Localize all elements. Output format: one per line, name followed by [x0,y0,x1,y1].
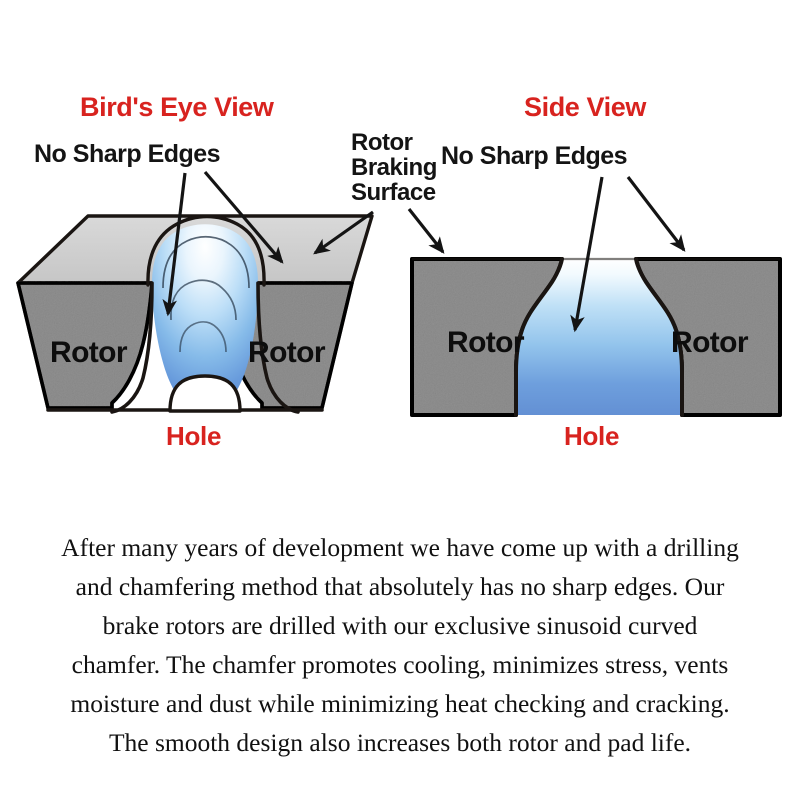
rotor-label-left: Rotor [50,336,128,369]
diagram-canvas: Rotor Rotor Bird's Eye View No Sharp Edg… [0,0,800,800]
description-paragraph: After many years of development we have … [8,528,792,762]
hole-label-side-view: Hole [564,421,619,451]
rotor-braking-surface-line1: Rotor [351,129,413,156]
birds-eye-view-group: Rotor Rotor Bird's Eye View No Sharp Edg… [18,92,437,451]
side-rotor-label-right: Rotor [671,326,749,359]
caption-line: and chamfering method that absolutely ha… [8,567,792,606]
caption-line: After many years of development we have … [8,528,792,567]
rotor-braking-surface-arrow-right [409,209,443,252]
caption-line: chamfer. The chamfer promotes cooling, m… [8,645,792,684]
side-rotor-label-left: Rotor [447,326,525,359]
no-sharp-edges-label-left: No Sharp Edges [34,140,220,168]
caption-line: brake rotors are drilled with our exclus… [8,606,792,645]
caption-line: moisture and dust while minimizing heat … [8,684,792,723]
rotor-label-right: Rotor [248,336,326,369]
rotor-braking-surface-line2: Braking [351,154,437,181]
hole-exit-arch [170,376,240,411]
side-view-group: Rotor Rotor Side View No Sharp Edges Hol… [409,92,780,451]
hole-label-birds-eye: Hole [166,421,221,451]
side-no-sharp-edges-arrow-right [628,177,684,250]
birds-eye-view-heading: Bird's Eye View [80,92,275,122]
rotor-braking-surface-line3: Surface [351,179,436,206]
side-view-heading: Side View [524,92,647,122]
no-sharp-edges-label-right: No Sharp Edges [441,142,627,170]
caption-line: The smooth design also increases both ro… [8,723,792,762]
